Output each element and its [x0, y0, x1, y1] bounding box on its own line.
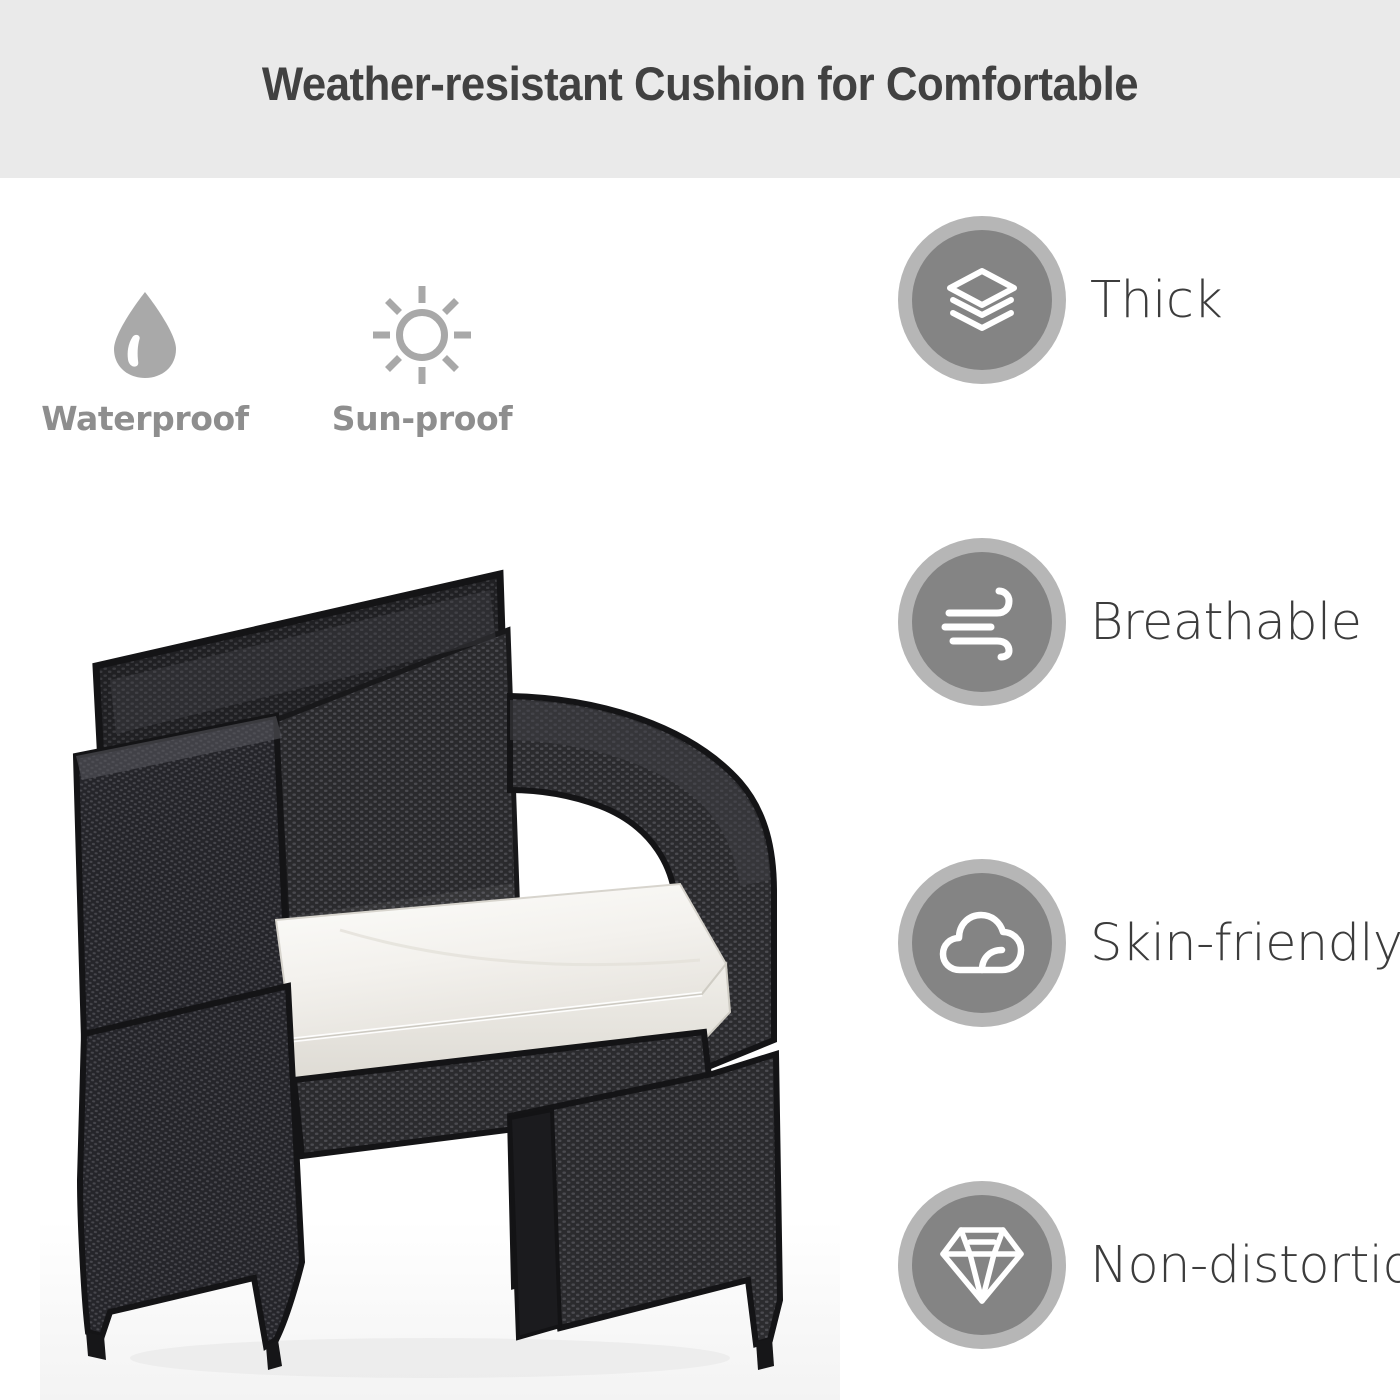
feature-item-thick: Thick — [898, 216, 1400, 384]
attribute-waterproof: Waterproof — [15, 285, 275, 455]
feature-badge — [898, 1181, 1066, 1349]
wind-icon — [941, 583, 1023, 661]
page-title: Weather-resistant Cushion for Comfortabl… — [49, 56, 1351, 111]
water-droplet-icon — [15, 285, 275, 385]
diamond-icon — [939, 1224, 1025, 1306]
feature-badge — [898, 216, 1066, 384]
feature-label: Breathable — [1090, 593, 1361, 652]
attribute-label: Waterproof — [15, 399, 275, 438]
feature-label: Thick — [1090, 271, 1222, 330]
header-band: Weather-resistant Cushion for Comfortabl… — [0, 0, 1400, 178]
attribute-sun-proof: Sun-proof — [292, 285, 552, 455]
feature-item-breathable: Breathable — [898, 538, 1400, 706]
feature-badge — [898, 859, 1066, 1027]
product-image-chair — [40, 520, 840, 1400]
feature-badge — [898, 538, 1066, 706]
feature-item-non-distortion: Non-distortion — [898, 1181, 1400, 1349]
sun-icon — [292, 285, 552, 385]
product-infographic: Weather-resistant Cushion for Comfortabl… — [0, 0, 1400, 1400]
feature-label: Skin-friendly — [1090, 914, 1400, 973]
feature-label: Non-distortion — [1090, 1236, 1400, 1295]
feature-list: Thick Breathable — [898, 216, 1400, 1348]
feature-item-skin-friendly: Skin-friendly — [898, 859, 1400, 1027]
attribute-row: Waterproof S — [0, 285, 640, 455]
layers-icon — [943, 261, 1021, 339]
attribute-label: Sun-proof — [292, 399, 552, 438]
cloud-icon — [938, 910, 1026, 976]
